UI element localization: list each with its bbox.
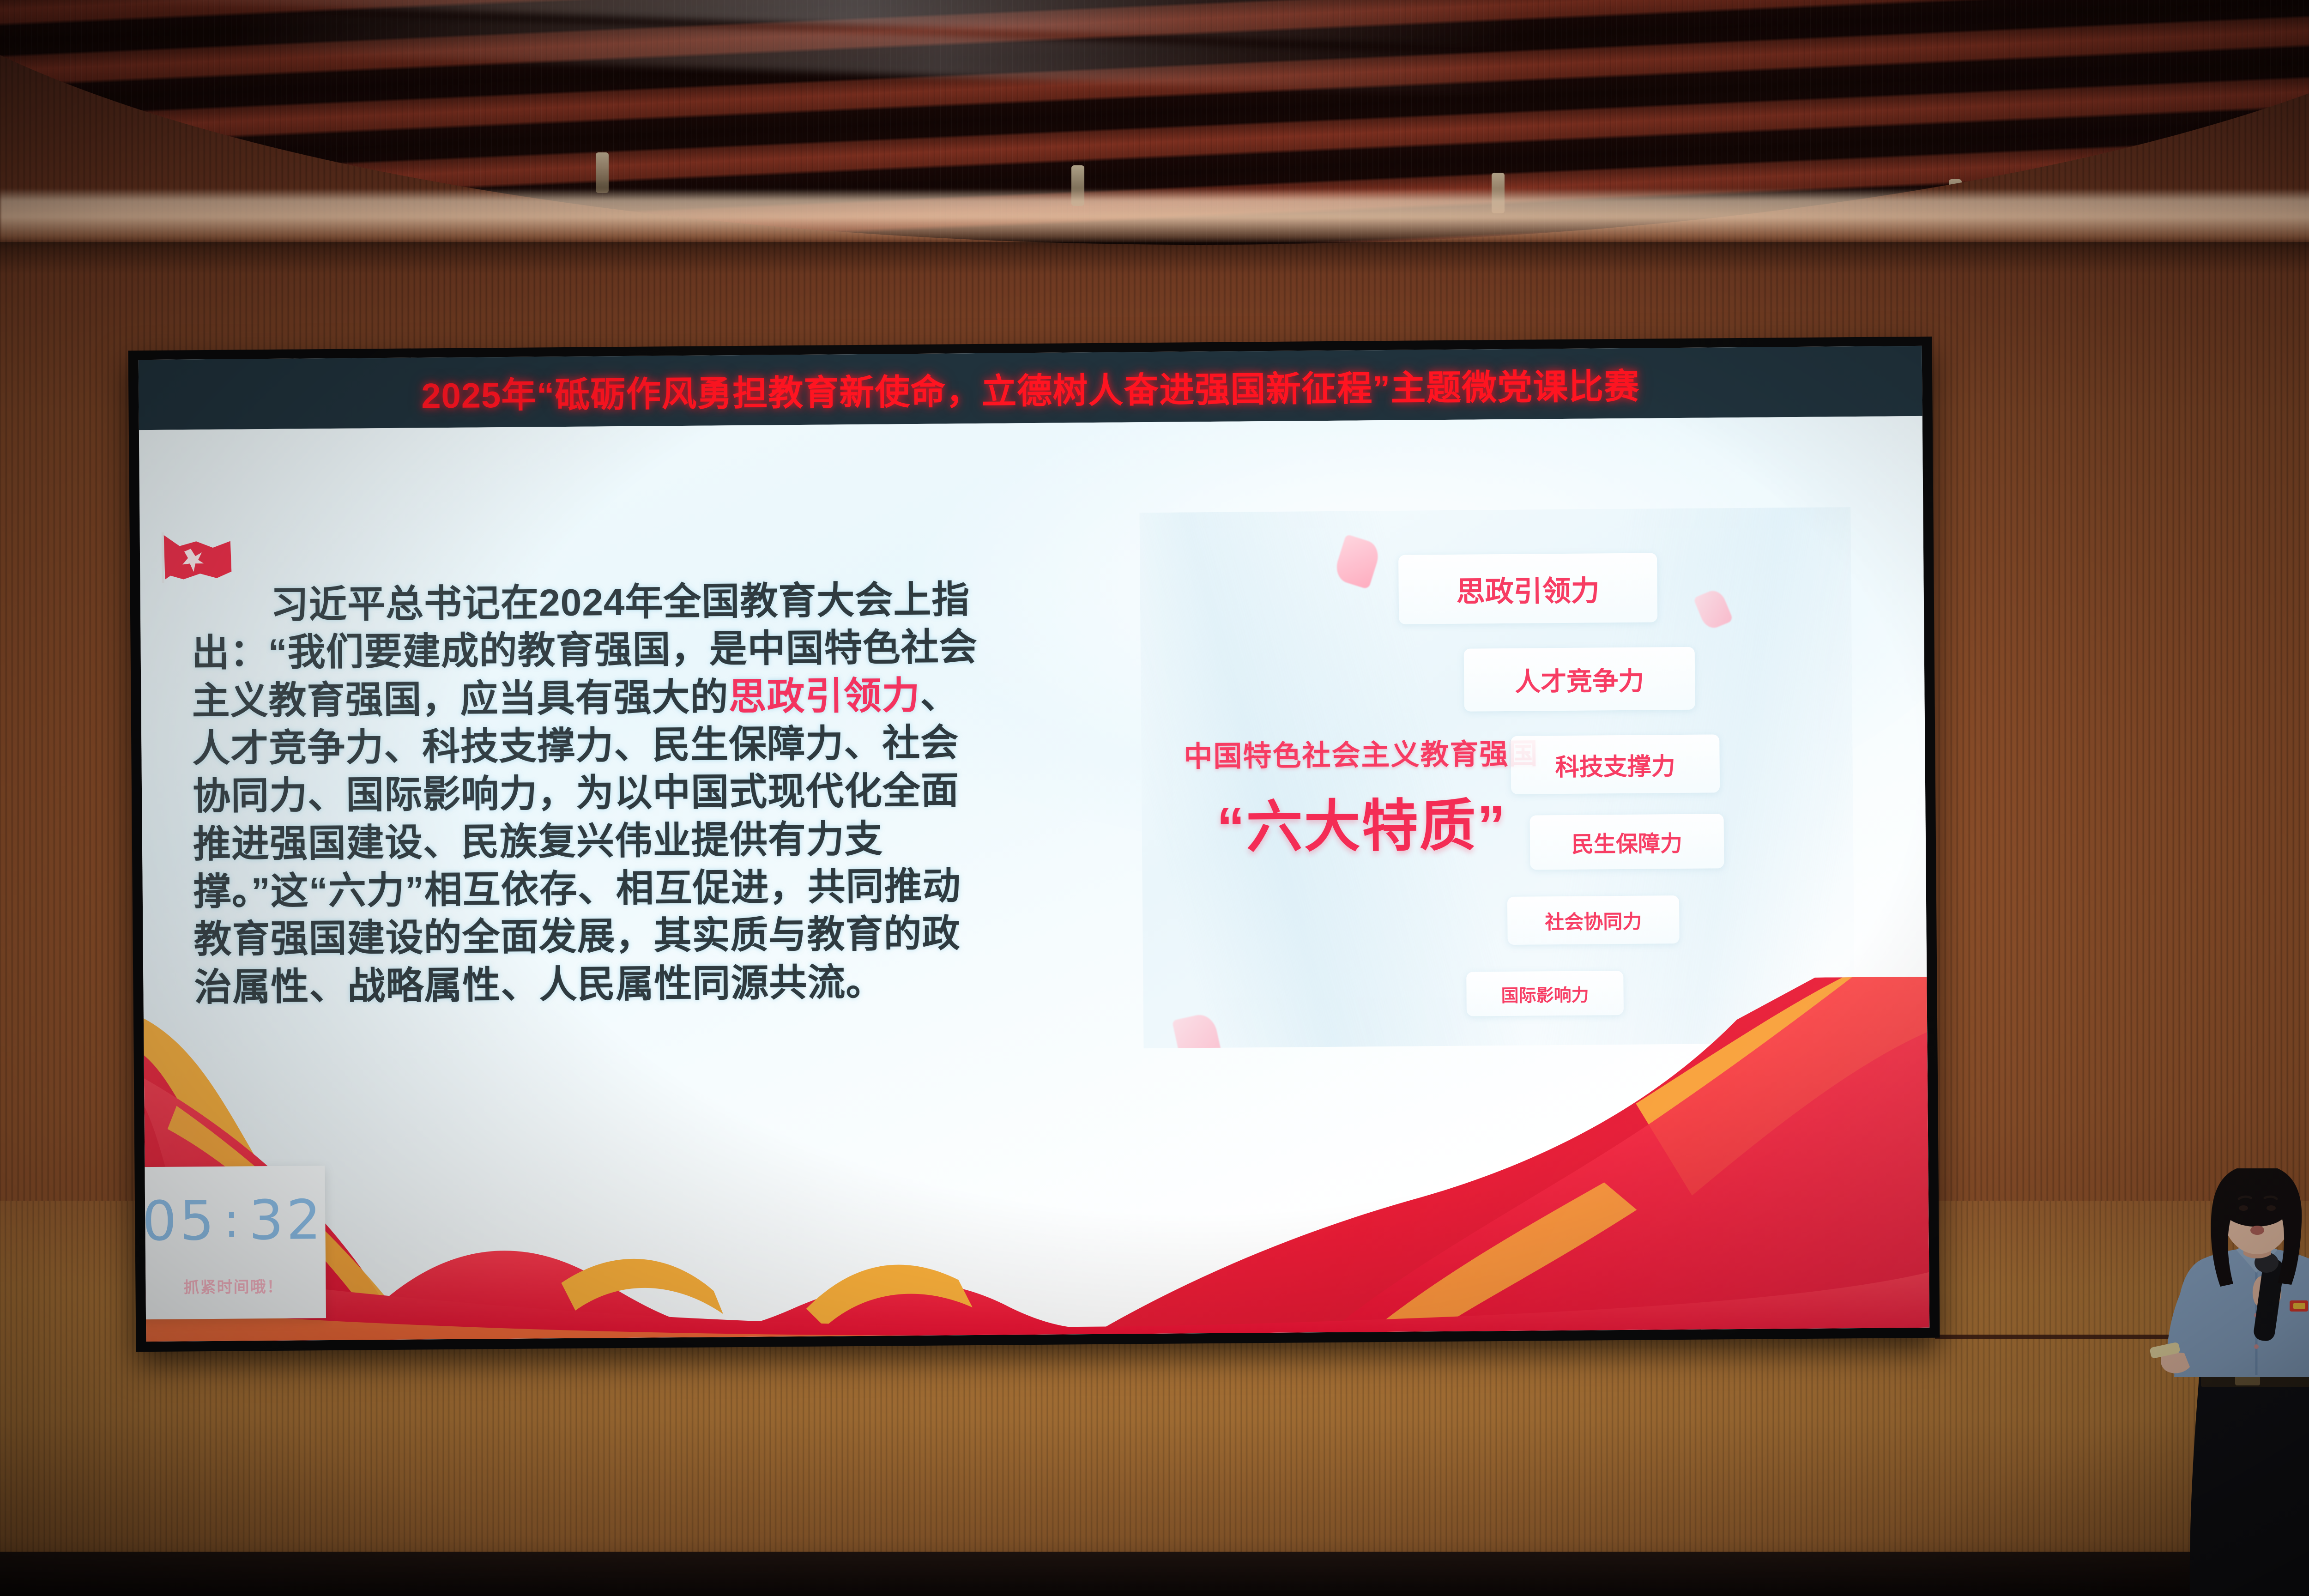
timer-minutes: 05 [142, 1188, 217, 1252]
projection-screen-bezel: 2025年“砥砺作风勇担教育新使命，立德树人奋进强国新征程”主题微党课比赛 习近… [128, 337, 1940, 1352]
projection-screen[interactable]: 2025年“砥砺作风勇担教育新使命，立德树人奋进强国新征程”主题微党课比赛 习近… [139, 346, 1930, 1342]
quality-pill-3[interactable]: 科技支撑力 [1511, 734, 1720, 794]
stage-floor [0, 1552, 2309, 1596]
photo-scene: 2025年“砥砺作风勇担教育新使命，立德树人奋进强国新征程”主题微党课比赛 习近… [0, 0, 2309, 1596]
quality-pill-4[interactable]: 民生保障力 [1530, 814, 1724, 870]
quality-label: 社会协同力 [1545, 906, 1642, 935]
body-text-highlight: 思政引领力 [728, 675, 920, 718]
infographic-headline: “六大特质” [1158, 779, 1565, 864]
event-title: 2025年“砥砺作风勇担教育新使命，立德树人奋进强国新征程”主题微党课比赛 [421, 358, 1640, 418]
quality-label: 民生保障力 [1572, 825, 1683, 858]
presenter-person [2120, 1168, 2309, 1596]
slide-body-text: 习近平总书记在2024年全国教育大会上指出：“我们要建成的教育强国，是中国特色社… [191, 576, 988, 1011]
six-qualities-infographic: 中国特色社会主义教育强国 “六大特质” 思政引领力 人才竞争力 科技支撑力 民生… [1139, 507, 1855, 1048]
timer-separator: : [223, 1192, 242, 1248]
cove-light-strip [0, 188, 2309, 244]
quality-pill-5[interactable]: 社会协同力 [1507, 895, 1680, 945]
slide-wave-decoration [143, 977, 1929, 1342]
quality-label: 科技支撑力 [1555, 747, 1675, 782]
infographic-headline-block: 中国特色社会主义教育强国 “六大特质” [1158, 730, 1565, 864]
party-flag-icon [157, 527, 241, 587]
slide-canvas: 习近平总书记在2024年全国教育大会上指出：“我们要建成的教育强国，是中国特色社… [139, 416, 1929, 1342]
slide-title-bar: 2025年“砥砺作风勇担教育新使命，立德树人奋进强国新征程”主题微党课比赛 [139, 346, 1922, 430]
infographic-subtitle: 中国特色社会主义教育强国 [1158, 730, 1565, 775]
body-text-suffix: 、人才竞争力、科技支撑力、民生保障力、社会协同力、国际影响力，为以中国式现代化全… [192, 674, 961, 1009]
quality-pill-2[interactable]: 人才竞争力 [1464, 647, 1695, 712]
timer-seconds: 32 [248, 1188, 324, 1252]
timer-display: 05 : 32 [142, 1188, 324, 1253]
countdown-timer-widget[interactable]: 05 : 32 抓紧时间哦！ [140, 1166, 326, 1319]
ceiling-speaker-icon [596, 152, 609, 193]
quality-label: 人才竞争力 [1515, 660, 1644, 698]
timer-hint-text: 抓紧时间哦！ [183, 1274, 283, 1297]
quality-label: 思政引领力 [1456, 567, 1600, 610]
cove-shadow [0, 242, 2309, 274]
quality-pill-1[interactable]: 思政引领力 [1398, 553, 1657, 624]
ceiling-speaker-icon [120, 139, 133, 179]
